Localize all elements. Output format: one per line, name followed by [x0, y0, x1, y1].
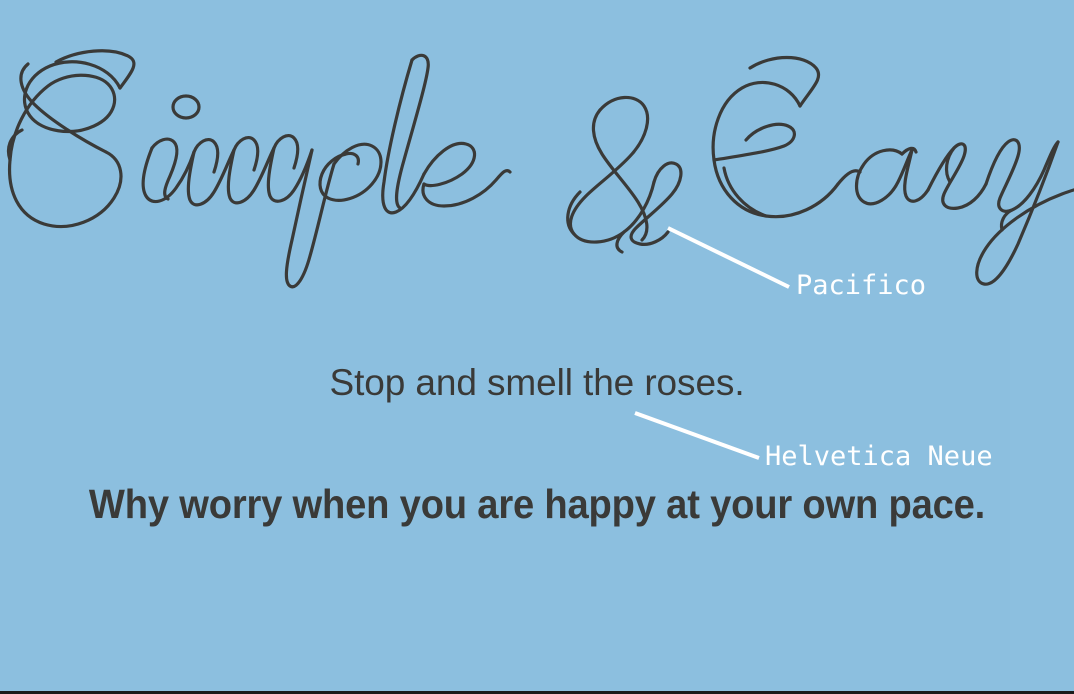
- specimen-line-helvetica: Stop and smell the roses.: [0, 364, 1074, 401]
- headline-script-artwork: [0, 0, 1074, 300]
- glyph-group-ampersand: [568, 97, 681, 252]
- specimen-line-condensed: Why worry when you are happy at your own…: [38, 484, 1037, 525]
- callout-leader-lines: [0, 0, 1074, 694]
- callout-label-helvetica: Helvetica Neue: [765, 443, 993, 470]
- specimen-canvas: Stop and smell the roses. Why worry when…: [0, 0, 1074, 694]
- glyph-group-simple: [9, 51, 511, 287]
- leader-line-pacifico: [668, 228, 789, 287]
- callout-label-pacifico: Pacifico: [796, 272, 926, 299]
- glyph-group-easy: [713, 58, 1074, 285]
- leader-line-helvetica: [635, 413, 759, 458]
